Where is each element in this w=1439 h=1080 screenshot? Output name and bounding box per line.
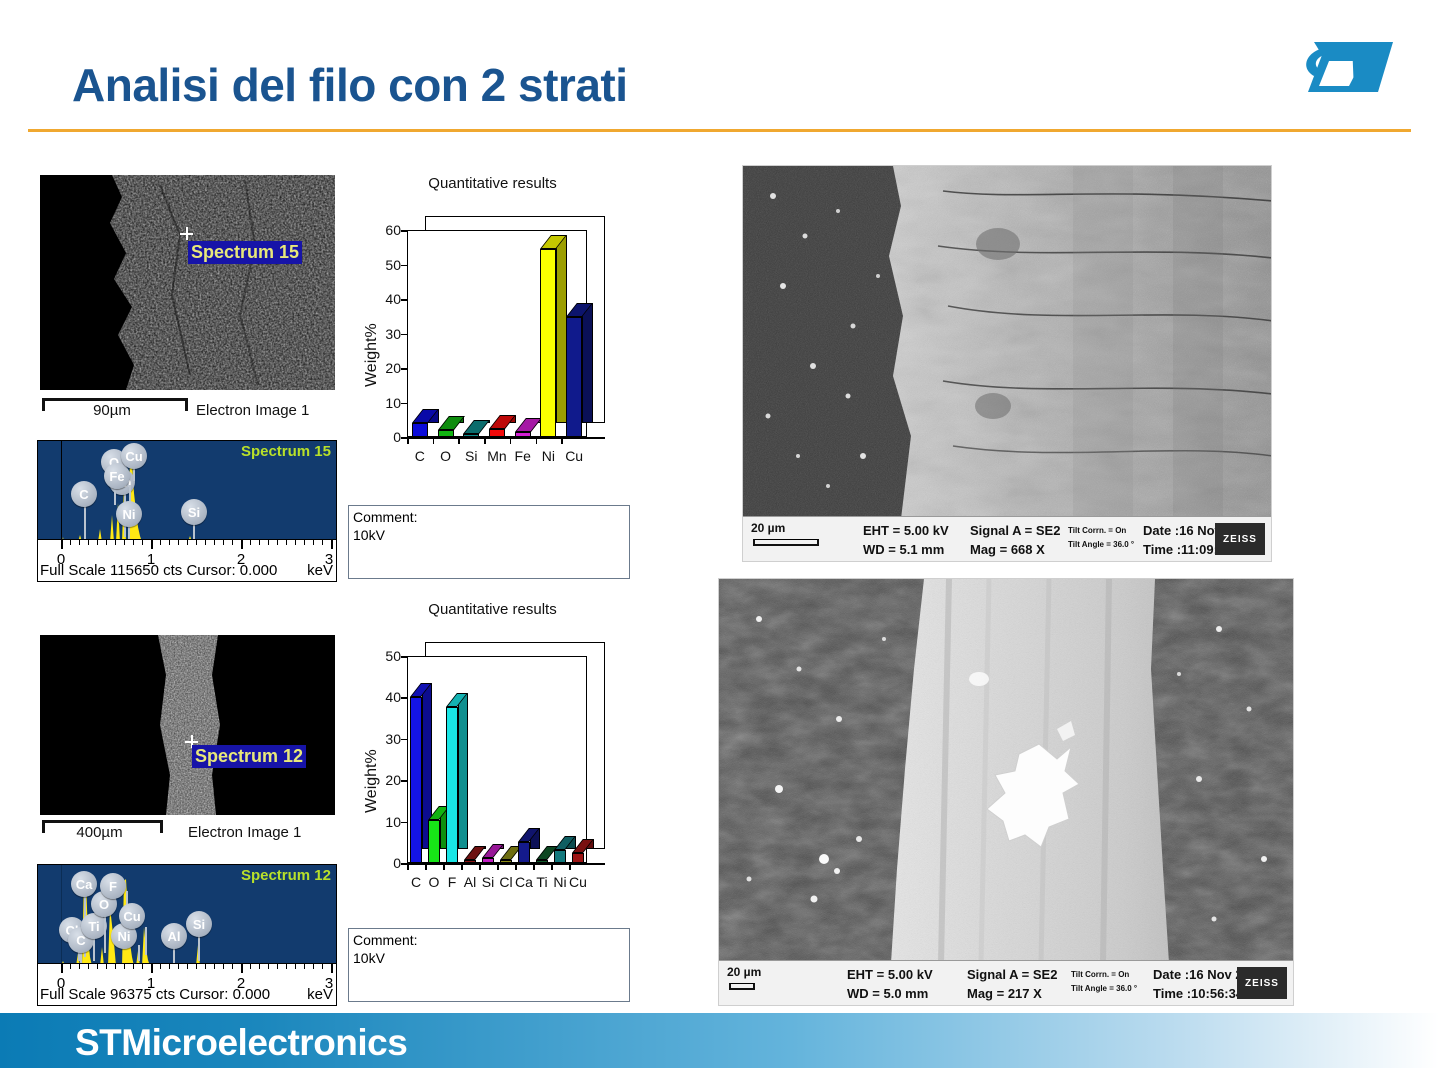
chart2-ytick-mark-30	[401, 739, 407, 741]
sem-top-scale-bar: 20 µm	[751, 521, 785, 535]
chart2-bar-Ca	[518, 842, 529, 863]
sem-image-top-content	[743, 166, 1272, 519]
chart2-ytick-mark-20	[401, 780, 407, 782]
sem-top-databar: 20 µm EHT = 5.00 kV WD = 5.1 mm Signal A…	[743, 516, 1271, 561]
sem-top-signal: Signal A = SE2	[970, 523, 1060, 538]
chart2-xlabel-Si: Si	[482, 874, 494, 890]
st-microelectronics-logo	[1292, 28, 1402, 106]
eds-12-bubble-f: F	[100, 873, 126, 899]
sem-bottom-tilt-angle: Tilt Angle = 36.0 °	[1071, 984, 1137, 993]
chart2-baseline	[407, 863, 605, 865]
chart1-ytick-mark-40	[401, 299, 407, 301]
eds-12-bubble-ca: Ca	[71, 871, 97, 897]
electron-image-spectrum-12: Spectrum 12	[40, 635, 335, 815]
eds-12-tick-row	[38, 964, 336, 975]
chart2-ytick-mark-10	[401, 822, 407, 824]
chart1-baseline	[407, 437, 605, 439]
sem-image-top: 20 µm EHT = 5.00 kV WD = 5.1 mm Signal A…	[742, 165, 1272, 562]
sem-bottom-time: Time :10:56:34	[1153, 986, 1243, 1001]
quantitative-results-chart-2: Quantitative results Weight% 01020304050…	[345, 598, 640, 888]
sem-image-bottom: 20 µm EHT = 5.00 kV WD = 5.0 mm Signal A…	[718, 578, 1294, 1006]
scale-bar-400um-label: 400µm	[42, 824, 157, 841]
sem-bottom-tilt-corrn: Tilt Corrn. = On	[1071, 970, 1129, 979]
eds-12-bubble-al: Al	[161, 923, 187, 949]
chart1-xlabel-Fe: Fe	[515, 448, 531, 464]
chart1-bar-O	[438, 430, 454, 437]
eds-15-bubble-si: Si	[181, 499, 207, 525]
chart2-ytick-mark-40	[401, 697, 407, 699]
comment-box-2-label: Comment:	[353, 932, 625, 950]
comment-box-1-value: 10kV	[353, 527, 625, 545]
comment-box-2[interactable]: Comment: 10kV	[348, 928, 630, 1002]
chart1-bar-Cu	[566, 317, 582, 437]
eds-spectrum-12: Spectrum 12 Ca Cl C Ti O F Ni Cu Al Si	[37, 864, 337, 1006]
chart1-ytick-mark-10	[401, 403, 407, 405]
chart2-xlabel-C: C	[411, 874, 421, 890]
sem-bottom-scale-bar: 20 µm	[727, 965, 761, 979]
eds-12-bubble-cu: Cu	[119, 903, 145, 929]
eds-15-bubble-ni: Ni	[116, 501, 142, 527]
page-title: Analisi del filo con 2 strati	[72, 58, 628, 112]
quantitative-results-chart-1: Quantitative results Weight% 01020304050…	[345, 172, 640, 462]
chart2-xlabel-Ti: Ti	[536, 874, 547, 890]
chart2-xlabel-F: F	[448, 874, 457, 890]
chart2-bar-Cu	[572, 853, 583, 863]
title-divider	[28, 129, 1411, 132]
sem-bottom-eht: EHT = 5.00 kV	[847, 967, 933, 982]
chart1-ytick-label-20: 20	[373, 360, 401, 376]
chart1-xlabel-C: C	[415, 448, 425, 464]
chart2-xlabel-O: O	[429, 874, 440, 890]
chart1-ytick-label-30: 30	[373, 326, 401, 342]
chart1-xlabel-Cu: Cu	[565, 448, 583, 464]
sem-bottom-zeiss-logo: ZEISS	[1237, 967, 1287, 999]
chart-1-plot-area: 0102030405060COSiMnFeNiCu	[345, 172, 640, 462]
eds-12-stem-ni	[138, 945, 140, 961]
chart2-bar-F	[446, 707, 457, 863]
chart1-bar-Ni	[540, 249, 556, 437]
eds-12-full-scale: Full Scale 96375 cts Cursor: 0.000	[40, 986, 270, 1003]
chart2-ytick-label-0: 0	[373, 855, 401, 871]
eds-15-axis-band: 0 1 2 3 Full Scale 115650 cts Cursor: 0.…	[38, 539, 336, 581]
eds-spectrum-15: Spectrum 15 C Mn O Fe Cu Ni Si	[37, 440, 337, 582]
chart1-ytick-label-0: 0	[373, 429, 401, 445]
sem-top-mag: Mag = 668 X	[970, 542, 1045, 557]
eds-12-kev-label: keV	[307, 986, 333, 1003]
chart1-xlabel-O: O	[440, 448, 451, 464]
eds-15-stem-ni	[128, 525, 130, 539]
sem-top-tilt-corrn: Tilt Corrn. = On	[1068, 526, 1126, 535]
chart1-ytick-mark-60	[401, 230, 407, 232]
chart2-xlabel-Ni: Ni	[553, 874, 566, 890]
sem-top-wd: WD = 5.1 mm	[863, 542, 944, 557]
chart2-ytick-label-50: 50	[373, 648, 401, 664]
comment-box-1[interactable]: Comment: 10kV	[348, 505, 630, 579]
chart2-ytick-label-10: 10	[373, 814, 401, 830]
eds-15-bubble-cu: Cu	[121, 443, 147, 469]
chart1-ytick-label-60: 60	[373, 222, 401, 238]
eds-12-axis-band: 0 1 2 3 Full Scale 96375 cts Cursor: 0.0…	[38, 963, 336, 1005]
eds-12-stem-cu	[145, 927, 147, 955]
chart2-bar-C	[410, 697, 421, 863]
chart1-depth-top	[425, 216, 605, 230]
chart2-ytick-label-40: 40	[373, 689, 401, 705]
electron-image-1-caption-top: Electron Image 1	[196, 402, 309, 419]
sem-bottom-databar: 20 µm EHT = 5.00 kV WD = 5.0 mm Signal A…	[719, 960, 1293, 1005]
comment-box-1-label: Comment:	[353, 509, 625, 527]
chart2-ytick-mark-50	[401, 656, 407, 658]
eds-12-stem-o	[104, 911, 106, 953]
chart1-ytick-label-40: 40	[373, 291, 401, 307]
chart2-bar-O	[428, 820, 439, 863]
chart1-bar-side-Cu	[582, 303, 593, 423]
chart1-ytick-mark-50	[401, 265, 407, 267]
eds-15-bubble-c: C	[71, 481, 97, 507]
electron-image-1-caption-bottom: Electron Image 1	[188, 824, 301, 841]
electron-image-spectrum-15: Spectrum 15	[40, 175, 335, 390]
sem-image-bottom-content	[719, 579, 1294, 963]
chart2-ytick-label-30: 30	[373, 731, 401, 747]
chart1-bar-Mn	[489, 429, 505, 437]
scale-bar-90um-label: 90µm	[42, 402, 182, 419]
chart2-xlabel-Ca: Ca	[515, 874, 533, 890]
eds-12-bubble-si: Si	[186, 911, 212, 937]
chart1-xlabel-Si: Si	[465, 448, 477, 464]
chart2-depth-right	[587, 642, 605, 849]
chart1-bar-C	[412, 423, 428, 437]
chart2-depth-top	[425, 642, 605, 656]
chart2-bar-Ni	[554, 850, 565, 863]
eds-15-tick-row	[38, 540, 336, 551]
chart1-ytick-label-10: 10	[373, 395, 401, 411]
chart2-xlabel-Cu: Cu	[569, 874, 587, 890]
sem-top-zeiss-logo: ZEISS	[1215, 523, 1265, 555]
chart2-bar-side-F	[458, 693, 469, 849]
chart-2-plot-area: 01020304050COFAlSiClCaTiNiCu	[345, 598, 640, 888]
sem-top-tilt-angle: Tilt Angle = 36.0 °	[1068, 540, 1134, 549]
sem-bottom-scale-label: 20 µm	[727, 965, 761, 979]
chart2-ytick-label-20: 20	[373, 772, 401, 788]
spectrum-15-marker	[180, 227, 193, 240]
spectrum-12-label: Spectrum 12	[192, 745, 306, 768]
footer-company-name: STMicroelectronics	[75, 1022, 407, 1064]
chart1-ytick-mark-30	[401, 334, 407, 336]
eds-15-kev-label: keV	[307, 562, 333, 579]
chart2-xlabel-Cl: Cl	[499, 874, 512, 890]
spectrum-15-label: Spectrum 15	[188, 241, 302, 264]
chart2-xlabel-Al: Al	[464, 874, 476, 890]
sem-bottom-wd: WD = 5.0 mm	[847, 986, 928, 1001]
sem-bottom-signal: Signal A = SE2	[967, 967, 1057, 982]
sem-top-eht: EHT = 5.00 kV	[863, 523, 949, 538]
eds-15-full-scale: Full Scale 115650 cts Cursor: 0.000	[40, 562, 277, 579]
eds-12-stem-si	[198, 935, 200, 961]
comment-box-2-value: 10kV	[353, 950, 625, 968]
chart1-ytick-mark-20	[401, 368, 407, 370]
sem-top-scale-label: 20 µm	[751, 521, 785, 535]
sem-bottom-mag: Mag = 217 X	[967, 986, 1042, 1001]
chart1-ytick-label-50: 50	[373, 257, 401, 273]
chart1-xlabel-Ni: Ni	[542, 448, 555, 464]
chart1-xlabel-Mn: Mn	[487, 448, 506, 464]
